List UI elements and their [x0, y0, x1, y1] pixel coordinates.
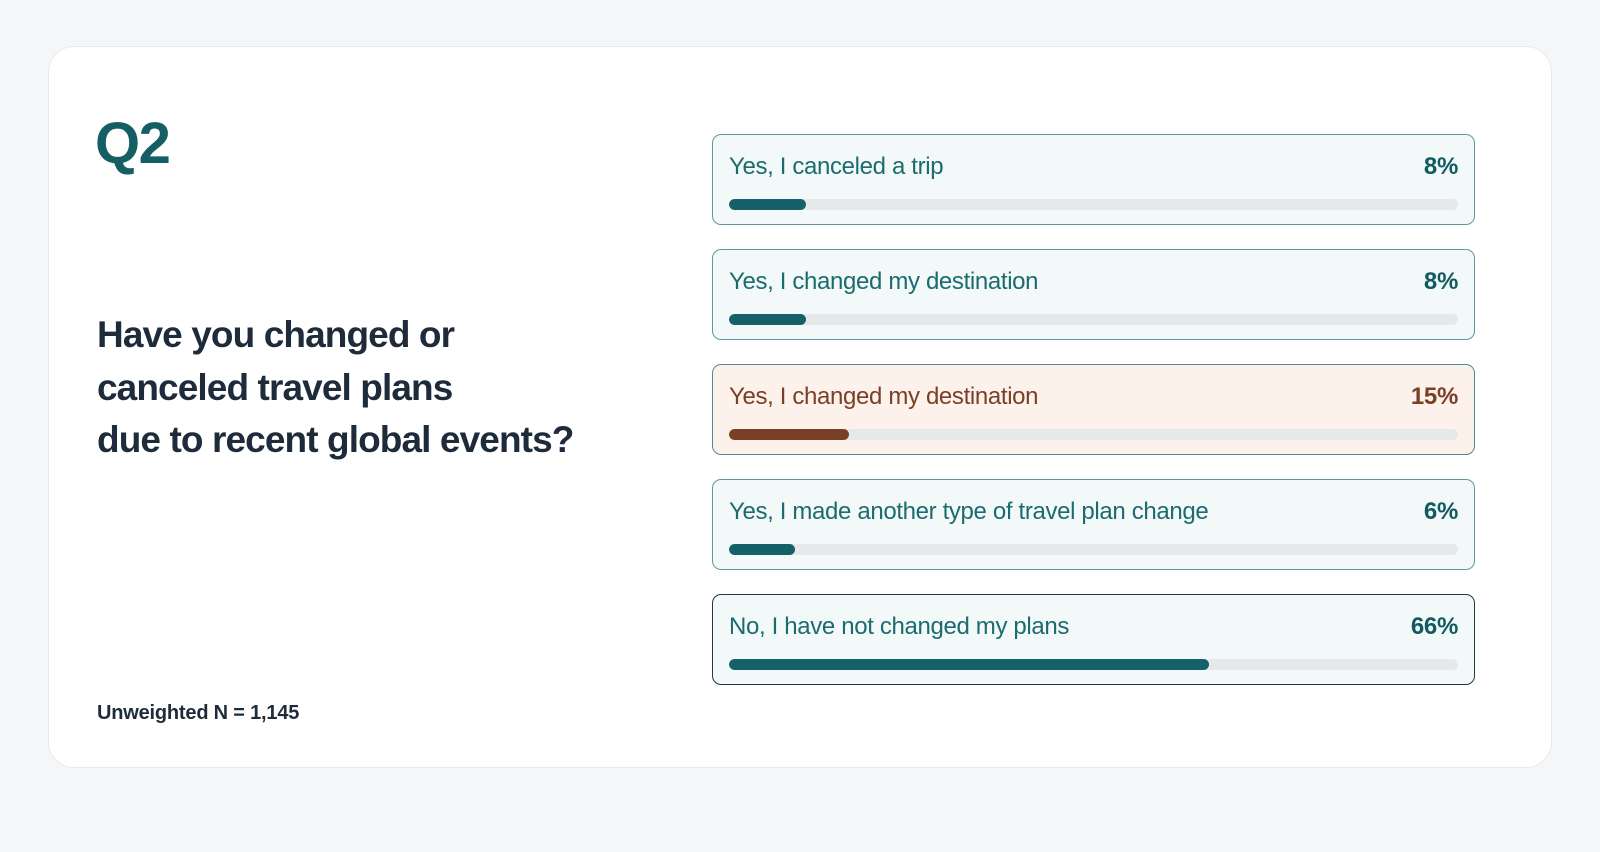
answer-row-header: Yes, I canceled a trip8%: [729, 154, 1458, 180]
progress-fill: [729, 429, 849, 440]
answer-row-header: No, I have not changed my plans66%: [729, 614, 1458, 640]
question-title: Have you changed or canceled travel plan…: [97, 309, 717, 467]
sample-size-note: Unweighted N = 1,145: [97, 702, 299, 725]
answer-label: Yes, I changed my destination: [729, 384, 1038, 410]
answer-label: Yes, I changed my destination: [729, 269, 1038, 295]
progress-track: [729, 199, 1458, 210]
progress-fill: [729, 659, 1209, 670]
answer-row[interactable]: Yes, I canceled a trip8%: [712, 134, 1475, 225]
answer-list: Yes, I canceled a trip8%Yes, I changed m…: [712, 134, 1475, 685]
answer-percentage: 8%: [1424, 154, 1458, 180]
answer-percentage: 8%: [1424, 269, 1458, 295]
answer-row[interactable]: No, I have not changed my plans66%: [712, 594, 1475, 685]
answer-row-header: Yes, I changed my destination8%: [729, 269, 1458, 295]
progress-track: [729, 429, 1458, 440]
answer-percentage: 6%: [1424, 499, 1458, 525]
question-number: Q2: [95, 115, 169, 173]
answer-row-header: Yes, I changed my destination15%: [729, 384, 1458, 410]
survey-result-card: Q2 Have you changed or canceled travel p…: [48, 46, 1552, 768]
answer-percentage: 66%: [1411, 614, 1458, 640]
progress-track: [729, 544, 1458, 555]
answer-row[interactable]: Yes, I changed my destination8%: [712, 249, 1475, 340]
answer-row[interactable]: Yes, I changed my destination15%: [712, 364, 1475, 455]
answer-label: Yes, I canceled a trip: [729, 154, 943, 180]
answer-row[interactable]: Yes, I made another type of travel plan …: [712, 479, 1475, 570]
progress-fill: [729, 314, 806, 325]
progress-track: [729, 314, 1458, 325]
question-panel: Q2 Have you changed or canceled travel p…: [95, 77, 725, 739]
progress-fill: [729, 199, 806, 210]
answer-label: Yes, I made another type of travel plan …: [729, 499, 1208, 525]
answer-percentage: 15%: [1411, 384, 1458, 410]
progress-fill: [729, 544, 795, 555]
answer-label: No, I have not changed my plans: [729, 614, 1069, 640]
answer-row-header: Yes, I made another type of travel plan …: [729, 499, 1458, 525]
progress-track: [729, 659, 1458, 670]
